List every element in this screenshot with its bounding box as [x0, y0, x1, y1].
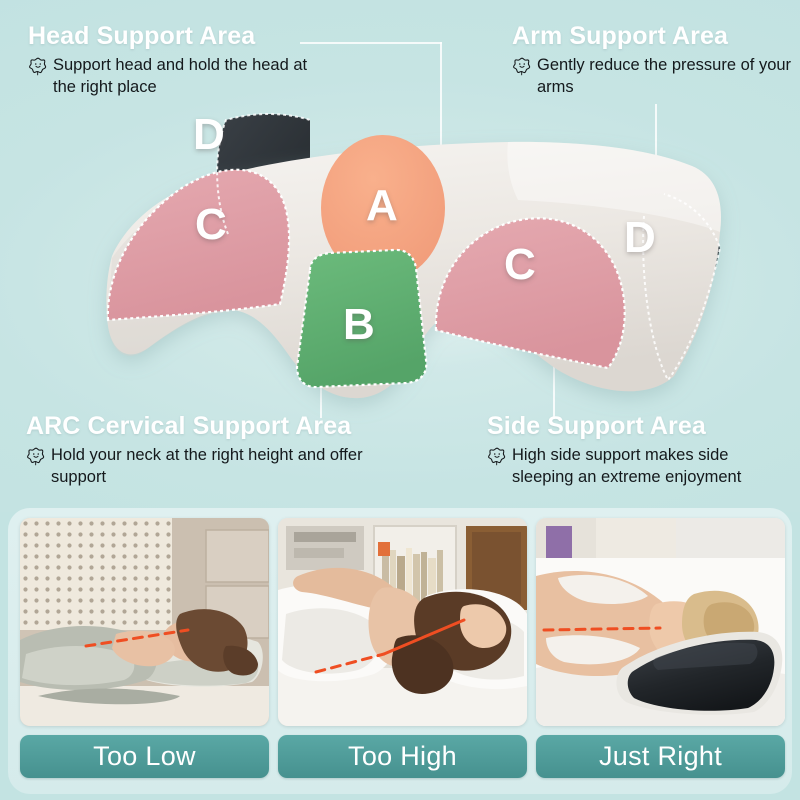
star-face-icon [512, 56, 532, 81]
pillow-zone-c-left-shape [108, 170, 289, 320]
star-face-icon [487, 446, 507, 471]
callout-description: Gently reduce the pressure of your arms [537, 54, 797, 98]
comparison-card-list: Too Low [20, 518, 785, 778]
infographic-stage: D C A B C D Head Support Area Support he… [0, 0, 800, 512]
comparison-caption: Too Low [20, 735, 269, 778]
callout-description: High side support makes side sleeping an… [512, 444, 782, 488]
callout-title: ARC Cervical Support Area [26, 412, 381, 440]
comparison-card: Too Low [20, 518, 269, 778]
comparison-card: Too High [278, 518, 527, 778]
callout-title: Arm Support Area [512, 22, 797, 50]
comparison-card: Just Right [536, 518, 785, 778]
photo-too-low [20, 518, 269, 726]
callout-head-support: Head Support Area Support head and hold … [28, 22, 313, 98]
comparison-caption: Just Right [536, 735, 785, 778]
photo-just-right [536, 518, 785, 726]
comparison-caption: Too High [278, 735, 527, 778]
star-face-icon [26, 446, 46, 471]
callout-description: Hold your neck at the right height and o… [51, 444, 381, 488]
pillow-illustration: D C A B C D [78, 108, 728, 408]
callout-description: Support head and hold the head at the ri… [53, 54, 313, 98]
star-face-icon [28, 56, 48, 81]
pillow-zone-b-shape [297, 250, 426, 387]
callout-side-support: Side Support Area High side support make… [487, 412, 782, 488]
callout-arm-support: Arm Support Area Gently reduce the press… [512, 22, 797, 98]
comparison-panel: Too Low [8, 508, 792, 794]
leader-line-head-horizontal [300, 42, 442, 44]
photo-too-high [278, 518, 527, 726]
callout-arc-cervical-support: ARC Cervical Support Area Hold your neck… [26, 412, 381, 488]
callout-title: Head Support Area [28, 22, 313, 50]
callout-title: Side Support Area [487, 412, 782, 440]
